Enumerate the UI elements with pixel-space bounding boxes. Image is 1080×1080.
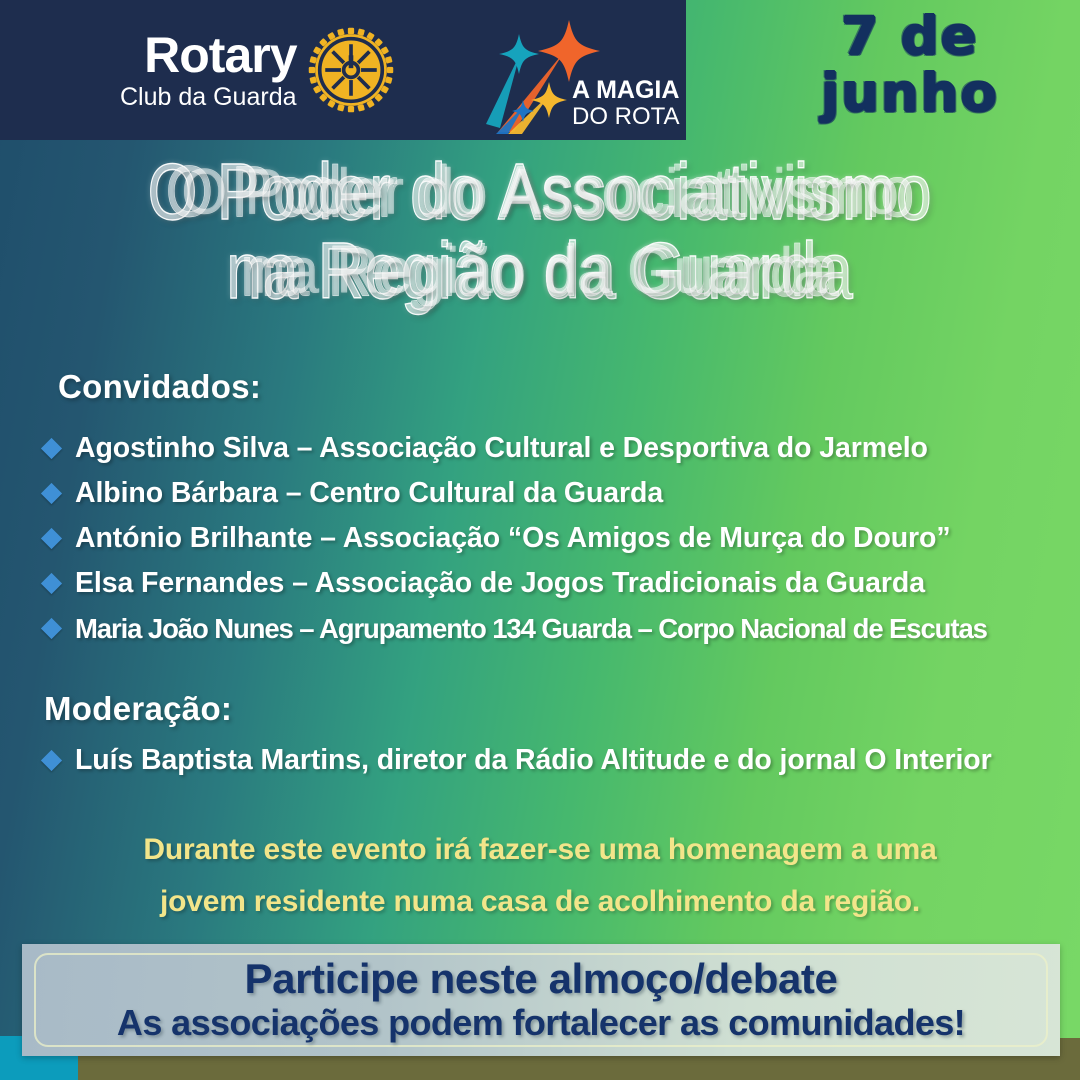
list-item: Elsa Fernandes – Associação de Jogos Tra…	[44, 561, 1064, 606]
logo-banner: Rotary Club da Guarda	[0, 0, 686, 140]
guest-name: Elsa Fernandes – Associação de Jogos Tra…	[75, 567, 925, 600]
page-title: O Poder do AssociativismoO Poder do Asso…	[0, 152, 1080, 310]
cta-line2: As associações podem fortalecer as comun…	[117, 1003, 965, 1043]
list-item: Maria João Nunes – Agrupamento 134 Guard…	[44, 606, 1064, 651]
date-line1: 7 de	[760, 8, 1060, 65]
moderator-name: Luís Baptista Martins, diretor da Rádio …	[75, 744, 992, 777]
four-point-star-teal-icon	[499, 34, 539, 74]
homage-note: Durante este evento irá fazer-se uma hom…	[40, 824, 1040, 927]
list-item: Luís Baptista Martins, diretor da Rádio …	[44, 738, 1064, 783]
diamond-bullet-icon	[41, 750, 62, 771]
list-item: Agostinho Silva – Associação Cultural e …	[44, 426, 1064, 471]
rotary-gear-wheel-icon	[305, 24, 397, 116]
rotary-club-logo: Rotary Club da Guarda	[120, 24, 397, 116]
diamond-bullet-icon	[41, 618, 62, 639]
title-line1: O Poder do AssociativismoO Poder do Asso…	[108, 152, 972, 231]
diamond-bullet-icon	[41, 528, 62, 549]
moderation-list: Luís Baptista Martins, diretor da Rádio …	[44, 738, 1064, 783]
guests-heading: Convidados:	[58, 368, 261, 406]
event-poster: Rotary Club da Guarda	[0, 0, 1080, 1080]
diamond-bullet-icon	[41, 573, 62, 594]
magia-logo-line1: A MAGIA	[572, 76, 679, 104]
guest-name: Albino Bárbara – Centro Cultural da Guar…	[75, 477, 663, 510]
guests-list: Agostinho Silva – Associação Cultural e …	[44, 426, 1064, 651]
guest-name: Agostinho Silva – Associação Cultural e …	[75, 432, 928, 465]
homage-line2: jovem residente numa casa de acolhimento…	[40, 876, 1040, 928]
title-line2: na Região da Guardana Região da Guardana…	[108, 231, 972, 310]
diamond-bullet-icon	[41, 483, 62, 504]
rotary-wordmark: Rotary	[144, 30, 296, 80]
rotary-wordmark-group: Rotary Club da Guarda	[120, 30, 297, 110]
magia-logo-line2: DO ROTARY	[572, 103, 680, 130]
rotary-club-name: Club da Guarda	[120, 85, 297, 110]
moderation-heading: Moderação:	[44, 690, 232, 728]
magia-do-rotary-logo: A MAGIA DO ROTARY	[468, 8, 680, 136]
date-line2: junho	[760, 65, 1060, 122]
call-to-action-banner: Participe neste almoço/debate As associa…	[22, 944, 1060, 1056]
diamond-bullet-icon	[41, 438, 62, 459]
list-item: Albino Bárbara – Centro Cultural da Guar…	[44, 471, 1064, 516]
guest-name: António Brilhante – Associação “Os Amigo…	[75, 522, 951, 555]
list-item: António Brilhante – Associação “Os Amigo…	[44, 516, 1064, 561]
homage-line1: Durante este evento irá fazer-se uma hom…	[40, 824, 1040, 876]
cta-line1: Participe neste almoço/debate	[245, 957, 838, 1001]
guest-name: Maria João Nunes – Agrupamento 134 Guard…	[75, 613, 987, 645]
event-date: 7 de junho	[760, 8, 1060, 122]
call-to-action-inner: Participe neste almoço/debate As associa…	[34, 953, 1048, 1047]
